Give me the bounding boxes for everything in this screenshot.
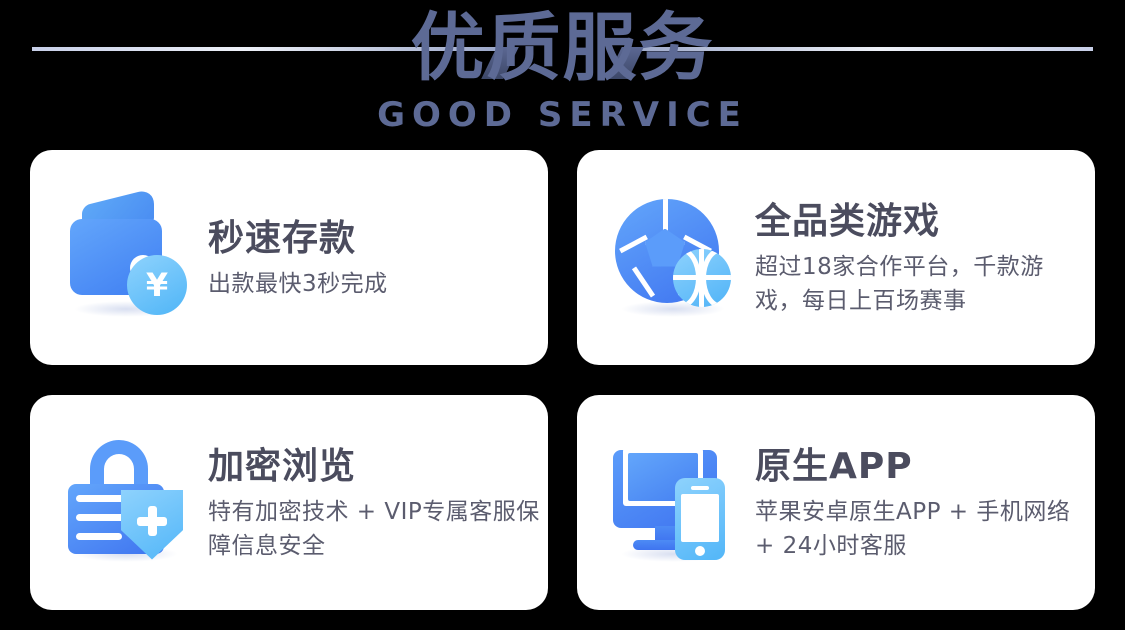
card-title: 全品类游戏 <box>755 200 1090 244</box>
feature-card-encryption[interactable]: 加密浏览 特有加密技术 + VIP专属客服保障信息安全 <box>30 395 548 610</box>
soccer-seam <box>632 266 655 297</box>
feature-card-native-app[interactable]: 原生APP 苹果安卓原生APP + 手机网络 + 24小时客服 <box>577 395 1095 610</box>
soccer-basketball-icon <box>611 193 739 323</box>
phone-home-button <box>695 546 705 556</box>
feature-card-deposit[interactable]: ¥ 秒速存款 出款最快3秒完成 <box>30 150 548 365</box>
soccer-seam <box>619 234 648 252</box>
card-text-block: 全品类游戏 超过18家合作平台，千款游戏，每日上百场赛事 <box>755 198 1090 318</box>
card-title: 秒速存款 <box>208 217 388 261</box>
card-text-block: 原生APP 苹果安卓原生APP + 手机网络 + 24小时客服 <box>755 443 1090 563</box>
feature-card-games[interactable]: 全品类游戏 超过18家合作平台，千款游戏，每日上百场赛事 <box>577 150 1095 365</box>
card-subtitle: 超过18家合作平台，千款游戏，每日上百场赛事 <box>755 250 1090 318</box>
card-text-block: 加密浏览 特有加密技术 + VIP专属客服保障信息安全 <box>208 443 543 563</box>
card-subtitle: 苹果安卓原生APP + 手机网络 + 24小时客服 <box>755 495 1090 563</box>
card-title: 原生APP <box>755 445 1090 489</box>
lock-shield-icon <box>64 438 192 568</box>
basketball-icon <box>673 249 731 307</box>
yen-symbol: ¥ <box>146 269 168 301</box>
page-title: 优质服务 <box>0 6 1125 90</box>
page-header: 优质服务 GOOD SERVICE <box>0 0 1125 146</box>
basketball-seam <box>673 249 701 307</box>
card-text-block: 秒速存款 出款最快3秒完成 <box>208 215 388 301</box>
monitor-phone-icon <box>611 438 739 568</box>
soccer-seam <box>663 199 668 231</box>
page-subtitle: GOOD SERVICE <box>0 96 1125 134</box>
phone-speaker <box>691 486 709 490</box>
lock-stripe <box>76 533 122 540</box>
card-subtitle: 出款最快3秒完成 <box>208 267 388 301</box>
wallet-yen-icon: ¥ <box>64 193 192 323</box>
card-title: 加密浏览 <box>208 445 543 489</box>
basketball-seam <box>701 249 731 307</box>
feature-card-grid: ¥ 秒速存款 出款最快3秒完成 <box>30 150 1095 610</box>
yen-coin-icon: ¥ <box>127 255 187 315</box>
plus-cross-icon <box>137 506 167 536</box>
card-subtitle: 特有加密技术 + VIP专属客服保障信息安全 <box>208 495 543 563</box>
phone-screen <box>681 494 719 542</box>
